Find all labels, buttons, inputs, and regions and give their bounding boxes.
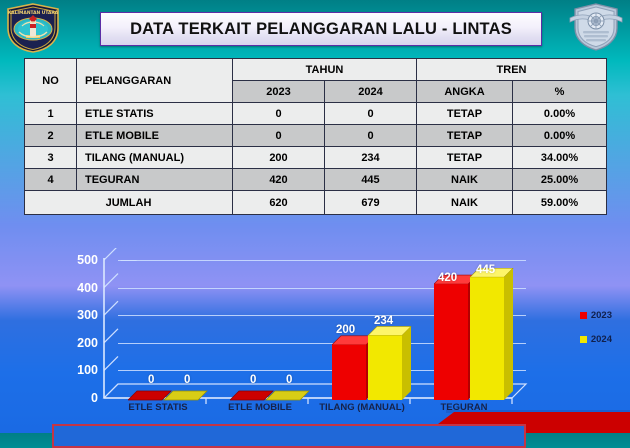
- bar-2023-etle-statis: [128, 391, 171, 400]
- cell-no: 1: [25, 103, 77, 125]
- bar-label-2023-tilang-manual: 200: [336, 324, 355, 336]
- bar-chart: 500 400 300 200 100 0 0 0 0 0 200 234: [0, 248, 630, 418]
- chart-legend: 2023 2024: [580, 310, 612, 358]
- cell-persen: 0.00%: [513, 103, 607, 125]
- cell-2024: 234: [325, 147, 417, 169]
- bar-label-2024-etle-statis: 0: [184, 374, 190, 386]
- bar-label-2023-etle-statis: 0: [148, 374, 154, 386]
- cell-total-2024: 679: [325, 191, 417, 215]
- cell-total-2023: 620: [233, 191, 325, 215]
- legend-label-2023: 2023: [591, 310, 612, 321]
- th-persen: %: [513, 81, 607, 103]
- ytick-500: 500: [58, 253, 98, 267]
- ytick-0: 0: [58, 391, 98, 405]
- bar-group-tilang-manual: [332, 288, 428, 400]
- cell-2024: 445: [325, 169, 417, 191]
- th-tahun: TAHUN: [233, 59, 417, 81]
- cell-2023: 200: [233, 147, 325, 169]
- kalimantan-utara-police-emblem-icon: KALIMANTAN UTARA: [4, 2, 62, 54]
- ytick-200: 200: [58, 336, 98, 350]
- bar-label-2024-teguran: 445: [476, 264, 495, 276]
- bottom-outlined-box: [52, 424, 526, 448]
- cell-total-persen: 59.00%: [513, 191, 607, 215]
- ytick-300: 300: [58, 308, 98, 322]
- violations-table: NO PELANGGARAN TAHUN TREN 2023 2024 ANGK…: [24, 58, 607, 215]
- th-tren: TREN: [417, 59, 607, 81]
- cell-persen: 34.00%: [513, 147, 607, 169]
- cell-no: 4: [25, 169, 77, 191]
- xtick-etle-statis: ETLE STATIS: [108, 402, 208, 413]
- cell-2023: 0: [233, 103, 325, 125]
- legend-swatch-2023-icon: [580, 312, 587, 319]
- cell-angka: TETAP: [417, 147, 513, 169]
- bar-label-2024-tilang-manual: 234: [374, 315, 393, 327]
- page-title-text: DATA TERKAIT PELANGGARAN LALU - LINTAS: [130, 20, 512, 39]
- cell-angka: NAIK: [417, 169, 513, 191]
- table-total-row: JUMLAH 620 679 NAIK 59.00%: [25, 191, 607, 215]
- legend-swatch-2024-icon: [580, 336, 587, 343]
- svg-text:KALIMANTAN UTARA: KALIMANTAN UTARA: [8, 10, 59, 16]
- table-row: 2 ETLE MOBILE 0 0 TETAP 0.00%: [25, 125, 607, 147]
- cell-persen: 0.00%: [513, 125, 607, 147]
- bar-group-teguran: [434, 268, 530, 400]
- violations-table-container: NO PELANGGARAN TAHUN TREN 2023 2024 ANGK…: [24, 58, 606, 215]
- th-pelanggaran: PELANGGARAN: [77, 59, 233, 103]
- bar-label-2023-teguran: 420: [438, 272, 457, 284]
- th-angka: ANGKA: [417, 81, 513, 103]
- xtick-tilang-manual: TILANG (MANUAL): [312, 402, 412, 413]
- cell-pelanggaran: ETLE STATIS: [77, 103, 233, 125]
- bar-2024-etle-mobile: [266, 391, 309, 400]
- table-row: 3 TILANG (MANUAL) 200 234 TETAP 34.00%: [25, 147, 607, 169]
- page-title: DATA TERKAIT PELANGGARAN LALU - LINTAS: [100, 12, 542, 46]
- korlantas-traffic-police-emblem-icon: [568, 1, 624, 53]
- th-no: NO: [25, 59, 77, 103]
- cell-total-angka: NAIK: [417, 191, 513, 215]
- cell-total-label: JUMLAH: [25, 191, 233, 215]
- legend-label-2024: 2024: [591, 334, 612, 345]
- header-bar: KALIMANTAN UTARA DATA TERKAIT PELANGGARA…: [0, 0, 630, 56]
- bar-2024-etle-statis: [164, 391, 207, 400]
- cell-2024: 0: [325, 103, 417, 125]
- bar-label-2024-etle-mobile: 0: [286, 374, 292, 386]
- ytick-400: 400: [58, 281, 98, 295]
- xtick-etle-mobile: ETLE MOBILE: [210, 402, 310, 413]
- cell-no: 3: [25, 147, 77, 169]
- table-row: 4 TEGURAN 420 445 NAIK 25.00%: [25, 169, 607, 191]
- legend-item-2024: 2024: [580, 334, 612, 345]
- cell-2023: 0: [233, 125, 325, 147]
- cell-angka: TETAP: [417, 103, 513, 125]
- cell-pelanggaran: ETLE MOBILE: [77, 125, 233, 147]
- bar-2023-etle-mobile: [230, 391, 273, 400]
- cell-2023: 420: [233, 169, 325, 191]
- cell-no: 2: [25, 125, 77, 147]
- legend-item-2023: 2023: [580, 310, 612, 321]
- cell-angka: TETAP: [417, 125, 513, 147]
- cell-pelanggaran: TILANG (MANUAL): [77, 147, 233, 169]
- table-header-row-1: NO PELANGGARAN TAHUN TREN: [25, 59, 607, 81]
- th-2024: 2024: [325, 81, 417, 103]
- cell-2024: 0: [325, 125, 417, 147]
- ytick-100: 100: [58, 363, 98, 377]
- cell-persen: 25.00%: [513, 169, 607, 191]
- table-row: 1 ETLE STATIS 0 0 TETAP 0.00%: [25, 103, 607, 125]
- cell-pelanggaran: TEGURAN: [77, 169, 233, 191]
- bar-label-2023-etle-mobile: 0: [250, 374, 256, 386]
- th-2023: 2023: [233, 81, 325, 103]
